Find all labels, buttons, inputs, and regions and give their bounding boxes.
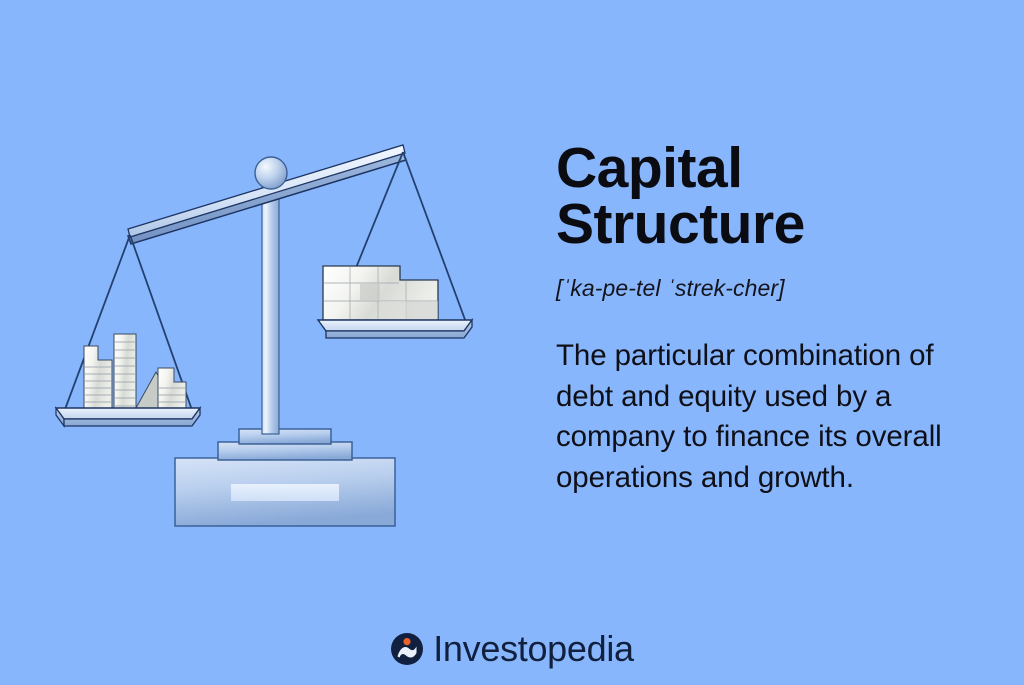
balance-scale-svg [40,120,520,550]
fulcrum-ball [255,157,287,189]
scale-base [175,429,395,526]
definition-text: The particular combination of debt and e… [556,336,976,499]
infographic-card: Capital Structure [ˈka-pe-tel ˈstrek-che… [0,0,1024,685]
scale-column [262,172,279,434]
pronunciation-text: [ˈka-pe-tel ˈstrek-cher] [556,275,986,302]
investopedia-logo[interactable]: Investopedia [0,631,1024,667]
investopedia-logo-icon [390,632,424,666]
page-title: Capital Structure [556,140,986,253]
buildings-group [84,334,186,408]
term-text-column: Capital Structure [ˈka-pe-tel ˈstrek-che… [556,140,986,499]
investopedia-wordmark: Investopedia [433,631,634,667]
cash-stacks-group [323,266,438,320]
left-pan-top [56,408,200,419]
base-plaque [231,484,339,501]
right-pan-top [318,320,472,331]
left-pan-assembly [56,235,200,426]
balance-scale-illustration [40,120,520,550]
